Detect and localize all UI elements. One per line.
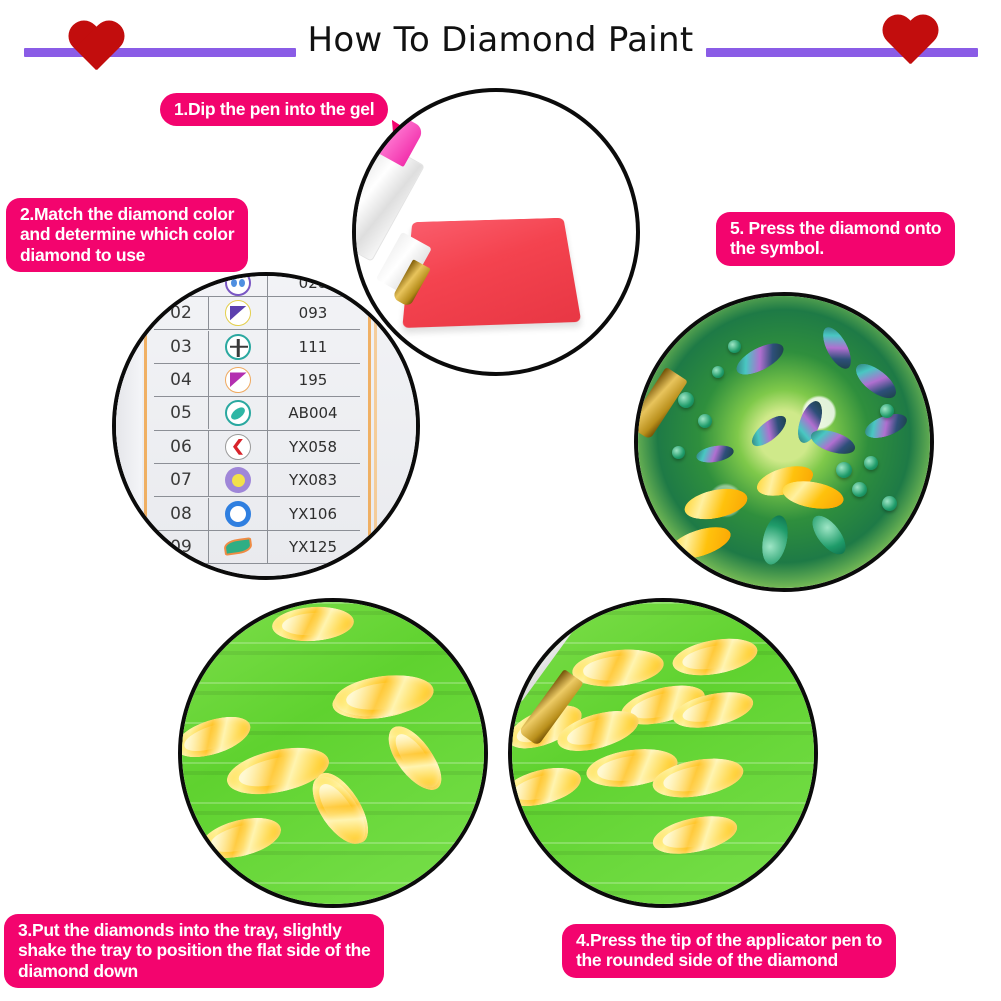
symbol-leaf-icon: [224, 539, 252, 555]
color-chart-row: 09 YX125: [154, 531, 360, 564]
chart-row-symbol: [209, 330, 268, 362]
step-5-line-2: the symbol.: [730, 238, 941, 258]
canvas-edge-line-right: [368, 276, 371, 576]
photo-pen-picking-diamond: [508, 598, 818, 908]
chart-row-code: 111: [268, 338, 358, 356]
canvas-gem-round: [712, 366, 724, 378]
photo-placing-diamond-on-canvas: [634, 292, 934, 592]
symbol-ring-icon: [225, 501, 251, 527]
step-5-label: 5. Press the diamond onto the symbol.: [716, 212, 955, 266]
symbol-triangle-icon: [225, 300, 251, 326]
step-1-label: 1.Dip the pen into the gel: [160, 93, 388, 126]
color-chart-row: 028: [154, 272, 360, 297]
color-chart-row: 06 YX058: [154, 431, 360, 464]
chart-row-number: 03: [154, 331, 209, 363]
canvas-gem-round: [836, 462, 852, 478]
step-2-label: 2.Match the diamond color and determine …: [6, 198, 248, 272]
chart-row-symbol: [209, 364, 268, 396]
step-3-line-2: shake the tray to position the flat side…: [18, 940, 370, 960]
photo-diamonds-in-tray: [178, 598, 488, 908]
canvas-gem-round: [728, 340, 741, 353]
symbol-oval-icon: [225, 400, 251, 426]
canvas-gem-round: [678, 392, 694, 408]
step-3-line-3: diamond down: [18, 961, 370, 981]
page-header: How To Diamond Paint: [0, 0, 1001, 86]
step-5-line-1: 5. Press the diamond onto: [730, 218, 941, 238]
chart-row-code: 093: [268, 304, 358, 322]
step-4-line-1: 4.Press the tip of the applicator pen to: [576, 930, 882, 950]
chart-row-code: YX106: [268, 505, 358, 523]
canvas-gem-round: [882, 496, 897, 511]
step-2-line-2: and determine which color: [20, 224, 234, 244]
chart-row-number: 08: [154, 498, 209, 530]
step-3-line-1: 3.Put the diamonds into the tray, slight…: [18, 920, 370, 940]
color-chart-row: 03 111: [154, 330, 360, 363]
chart-row-code: AB004: [268, 404, 358, 422]
symbol-plus-icon: [225, 334, 251, 360]
canvas-gem-round: [864, 456, 878, 470]
canvas-left-margin: [116, 276, 142, 576]
chart-row-code: 028: [268, 274, 358, 292]
canvas-gem-round: [852, 482, 867, 497]
color-chart-row: 07 YX083: [154, 464, 360, 497]
color-chart-table: 02802 09303 11104 19505 AB00406 YX05807 …: [154, 272, 360, 564]
chart-row-symbol: [209, 431, 268, 463]
step-2-line-3: diamond to use: [20, 245, 234, 265]
color-chart-row: 04 195: [154, 364, 360, 397]
canvas-edge-line-right-2: [374, 276, 377, 576]
color-chart-row: 08YX106: [154, 497, 360, 530]
chart-row-symbol: [209, 497, 268, 529]
pen-cap: [358, 103, 425, 167]
chart-row-symbol: [209, 297, 268, 329]
chart-row-symbol: [209, 464, 268, 496]
symbol-two-dots-icon: [225, 272, 251, 296]
step-4-line-2: the rounded side of the diamond: [576, 950, 882, 970]
symbol-chevron-icon: [225, 434, 251, 460]
color-chart-row: 05 AB004: [154, 397, 360, 430]
gel-pad: [402, 218, 581, 328]
canvas-gem-round: [672, 446, 685, 459]
canvas-gem-round: [698, 414, 712, 428]
symbol-triangle-icon: [225, 367, 251, 393]
chart-row-number: 05: [154, 397, 209, 429]
chart-row-code: YX125: [268, 538, 358, 556]
step-3-label: 3.Put the diamonds into the tray, slight…: [4, 914, 384, 988]
canvas-edge-line-left: [144, 276, 147, 576]
chart-row-symbol: [209, 397, 268, 429]
diamond-tray: [182, 602, 484, 904]
chart-row-number: 09: [154, 531, 209, 563]
chart-row-code: YX083: [268, 471, 358, 489]
color-chart-row: 02 093: [154, 297, 360, 330]
chart-row-code: 195: [268, 371, 358, 389]
step-4-label: 4.Press the tip of the applicator pen to…: [562, 924, 896, 978]
symbol-ring-dot-icon: [225, 467, 251, 493]
step-2-line-1: 2.Match the diamond color: [20, 204, 234, 224]
photo-color-chart: 02802 09303 11104 19505 AB00406 YX05807 …: [112, 272, 420, 580]
canvas-gem-round: [880, 404, 894, 418]
chart-row-symbol: [209, 531, 268, 563]
step-1-line-1: 1.Dip the pen into the gel: [174, 99, 374, 119]
page-title: How To Diamond Paint: [0, 20, 1001, 60]
chart-row-code: YX058: [268, 438, 358, 456]
chart-row-number: 07: [154, 464, 209, 496]
chart-row-number: 04: [154, 364, 209, 396]
chart-row-number: 06: [154, 431, 209, 463]
chart-row-symbol: [209, 272, 268, 296]
chart-row-number: 02: [154, 297, 209, 329]
